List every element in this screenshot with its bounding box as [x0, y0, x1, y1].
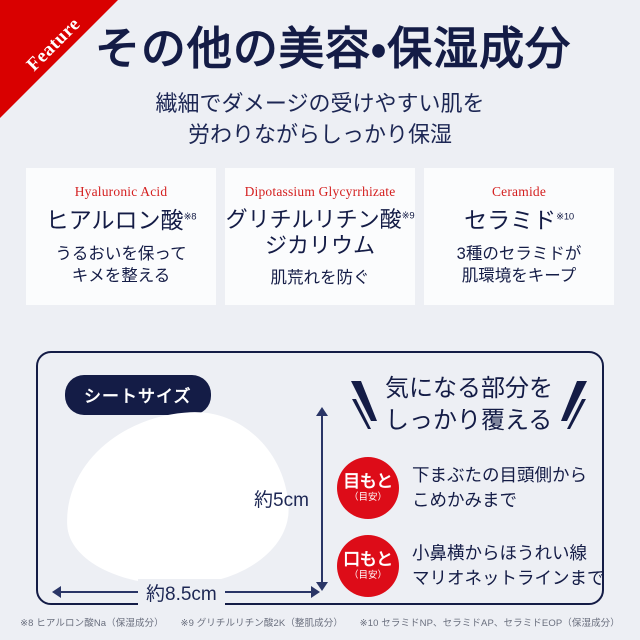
ingredient-card-hyaluronic-acid: Hyaluronic Acid ヒアルロン酸※8 うるおいを保って キメを整える [26, 168, 216, 305]
area-badge-circle: 目もと （目安） [337, 457, 399, 519]
ingredient-card-ceramide: Ceramide セラミド※10 3種のセラミドが 肌環境をキープ [424, 168, 614, 305]
area-desc-line-1: 下まぶたの目頭側から [412, 463, 587, 488]
ingredient-english-name: Hyaluronic Acid [26, 184, 216, 200]
footnote-marker: ※8 [184, 212, 197, 223]
ingredient-card-dipotassium-glycyrrhizate: Dipotassium Glycyrrhizate グリチルリチン酸※9 ジカリ… [225, 168, 415, 305]
coverage-heading-line-1: 気になる部分を [385, 373, 553, 405]
ingredient-desc-line-1: 肌荒れを防ぐ [225, 267, 415, 289]
ingredient-desc-line-2: 肌環境をキープ [424, 265, 614, 287]
coverage-area-mouth: 口もと （目安） 小鼻横からほうれい線 マリオネットラインまで [337, 535, 605, 597]
width-dimension-label: 約8.5cm [138, 579, 225, 606]
ingredient-description: うるおいを保って キメを整える [26, 243, 216, 288]
ingredient-description: 肌荒れを防ぐ [225, 267, 415, 289]
footnote-marker: ※10 [556, 212, 574, 223]
area-desc-line-2: こめかみまで [412, 488, 587, 513]
area-desc-line-2: マリオネットラインまで [412, 566, 605, 591]
ingredient-name-text: セラミド [464, 207, 556, 233]
ingredient-japanese-name: グリチルリチン酸※9 ジカリウム [225, 207, 415, 258]
area-badge-sublabel: （目安） [349, 493, 387, 503]
footnote-item: ※8 ヒアルロン酸Na（保湿成分） [20, 618, 164, 629]
subtitle-line-2: 労わりながらしっかり保湿 [0, 119, 640, 150]
area-description: 小鼻横からほうれい線 マリオネットラインまで [412, 541, 605, 591]
ingredient-japanese-name: セラミド※10 [424, 207, 614, 234]
coverage-area-eye: 目もと （目安） 下まぶたの目頭側から こめかみまで [337, 457, 587, 519]
coverage-heading-line-2: しっかり覆える [385, 405, 553, 437]
ingredient-name-text: ヒアルロン酸 [46, 207, 184, 233]
area-badge-circle: 口もと （目安） [337, 535, 399, 597]
coverage-heading-text: 気になる部分を しっかり覆える [385, 373, 553, 436]
ingredient-english-name: Ceramide [424, 184, 614, 200]
double-slash-right-icon [559, 377, 589, 433]
sheet-size-badge: シートサイズ [65, 375, 211, 415]
ingredient-name-text: グリチルリチン酸 [226, 207, 402, 232]
ribbon-triangle [0, 0, 118, 118]
area-badge-label: 目もと [343, 473, 393, 490]
ingredient-description: 3種のセラミドが 肌環境をキープ [424, 243, 614, 288]
footnote-marker: ※9 [402, 211, 415, 222]
ingredient-desc-line-1: うるおいを保って [26, 243, 216, 265]
double-slash-left-icon [349, 377, 379, 433]
area-description: 下まぶたの目頭側から こめかみまで [412, 463, 587, 513]
footnote-item: ※9 グリチルリチン酸2K（整肌成分） [181, 618, 343, 629]
ingredient-desc-line-2: キメを整える [26, 265, 216, 287]
area-badge-label: 口もと [343, 551, 393, 568]
area-badge-sublabel: （目安） [349, 571, 387, 581]
ingredient-english-name: Dipotassium Glycyrrhizate [225, 184, 415, 200]
footnote-item: ※10 セラミドNP、セラミドAP、セラミドEOP（保湿成分） [360, 618, 620, 629]
area-desc-line-1: 小鼻横からほうれい線 [412, 541, 605, 566]
ingredient-name-text-line-2: ジカリウム [225, 233, 415, 259]
height-dimension-arrow [321, 415, 323, 583]
coverage-heading: 気になる部分を しっかり覆える [338, 373, 600, 436]
ingredient-japanese-name: ヒアルロン酸※8 [26, 207, 216, 234]
ingredient-desc-line-1: 3種のセラミドが [424, 243, 614, 265]
ingredient-card-list: Hyaluronic Acid ヒアルロン酸※8 うるおいを保って キメを整える… [0, 168, 640, 305]
feature-ribbon: Feature [0, 0, 118, 118]
footnote-list: ※8 ヒアルロン酸Na（保湿成分） ※9 グリチルリチン酸2K（整肌成分） ※1… [0, 615, 640, 629]
height-dimension-label: 約5cm [254, 485, 309, 512]
sheet-size-panel: シートサイズ 約5cm 約8.5cm 気になる部分を しっかり覆える 目もと （… [36, 351, 604, 605]
